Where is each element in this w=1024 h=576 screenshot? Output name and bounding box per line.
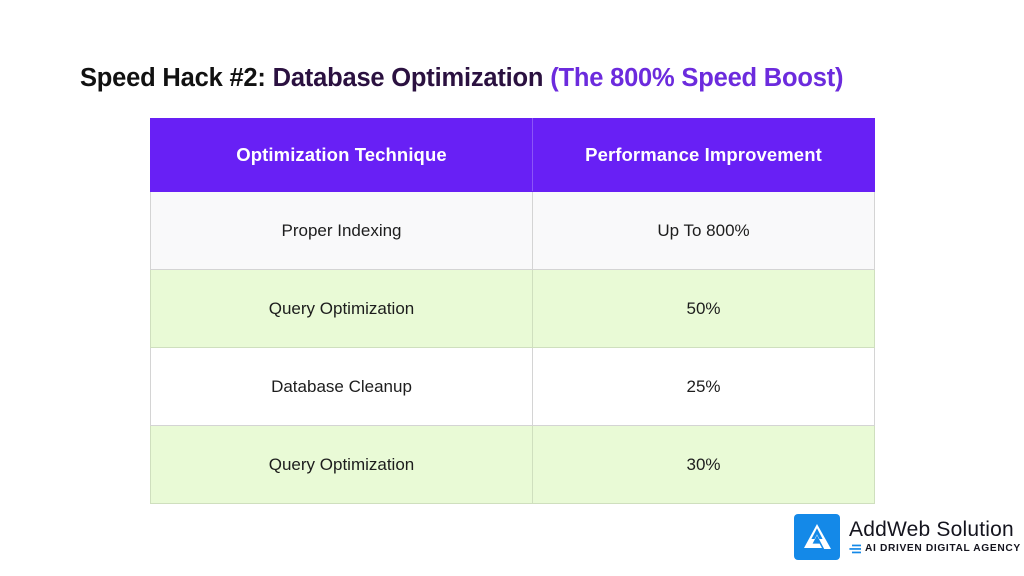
table-row: Database Cleanup 25%	[151, 348, 875, 426]
brand-tagline-row: AI DRIVEN DIGITAL AGENCY	[849, 544, 1024, 554]
cell-technique: Query Optimization	[151, 426, 533, 504]
title-segment-purple: (The 800% Speed Boost)	[550, 64, 843, 92]
brand-name: AddWeb Solution	[849, 519, 1024, 540]
cell-improvement: 50%	[533, 270, 875, 348]
page-title: Speed Hack #2: Database Optimization (Th…	[80, 63, 843, 94]
performance-table: Optimization Technique Performance Impro…	[150, 118, 875, 504]
table-row: Query Optimization 30%	[151, 426, 875, 504]
title-segment-dark: Database Optimization	[273, 64, 551, 92]
title-segment-black: Speed Hack #2:	[80, 64, 273, 92]
cell-technique: Database Cleanup	[151, 348, 533, 426]
addweb-a-mark-icon	[794, 514, 840, 560]
cell-technique: Query Optimization	[151, 270, 533, 348]
brand-text: AddWeb Solution AI DRIVEN DIGITAL AGENCY	[849, 519, 1024, 554]
column-header-technique: Optimization Technique	[151, 119, 533, 192]
table-row: Query Optimization 50%	[151, 270, 875, 348]
table-header-row: Optimization Technique Performance Impro…	[151, 119, 875, 192]
brand-tagline: AI DRIVEN DIGITAL AGENCY	[865, 544, 1021, 554]
cell-technique: Proper Indexing	[151, 192, 533, 270]
table-row: Proper Indexing Up To 800%	[151, 192, 875, 270]
column-header-improvement: Performance Improvement	[533, 119, 875, 192]
cell-improvement: 25%	[533, 348, 875, 426]
brand-logo: AddWeb Solution AI DRIVEN DIGITAL AGENCY	[794, 514, 1024, 560]
cell-improvement: 30%	[533, 426, 875, 504]
speed-lines-icon	[849, 544, 861, 554]
cell-improvement: Up To 800%	[533, 192, 875, 270]
